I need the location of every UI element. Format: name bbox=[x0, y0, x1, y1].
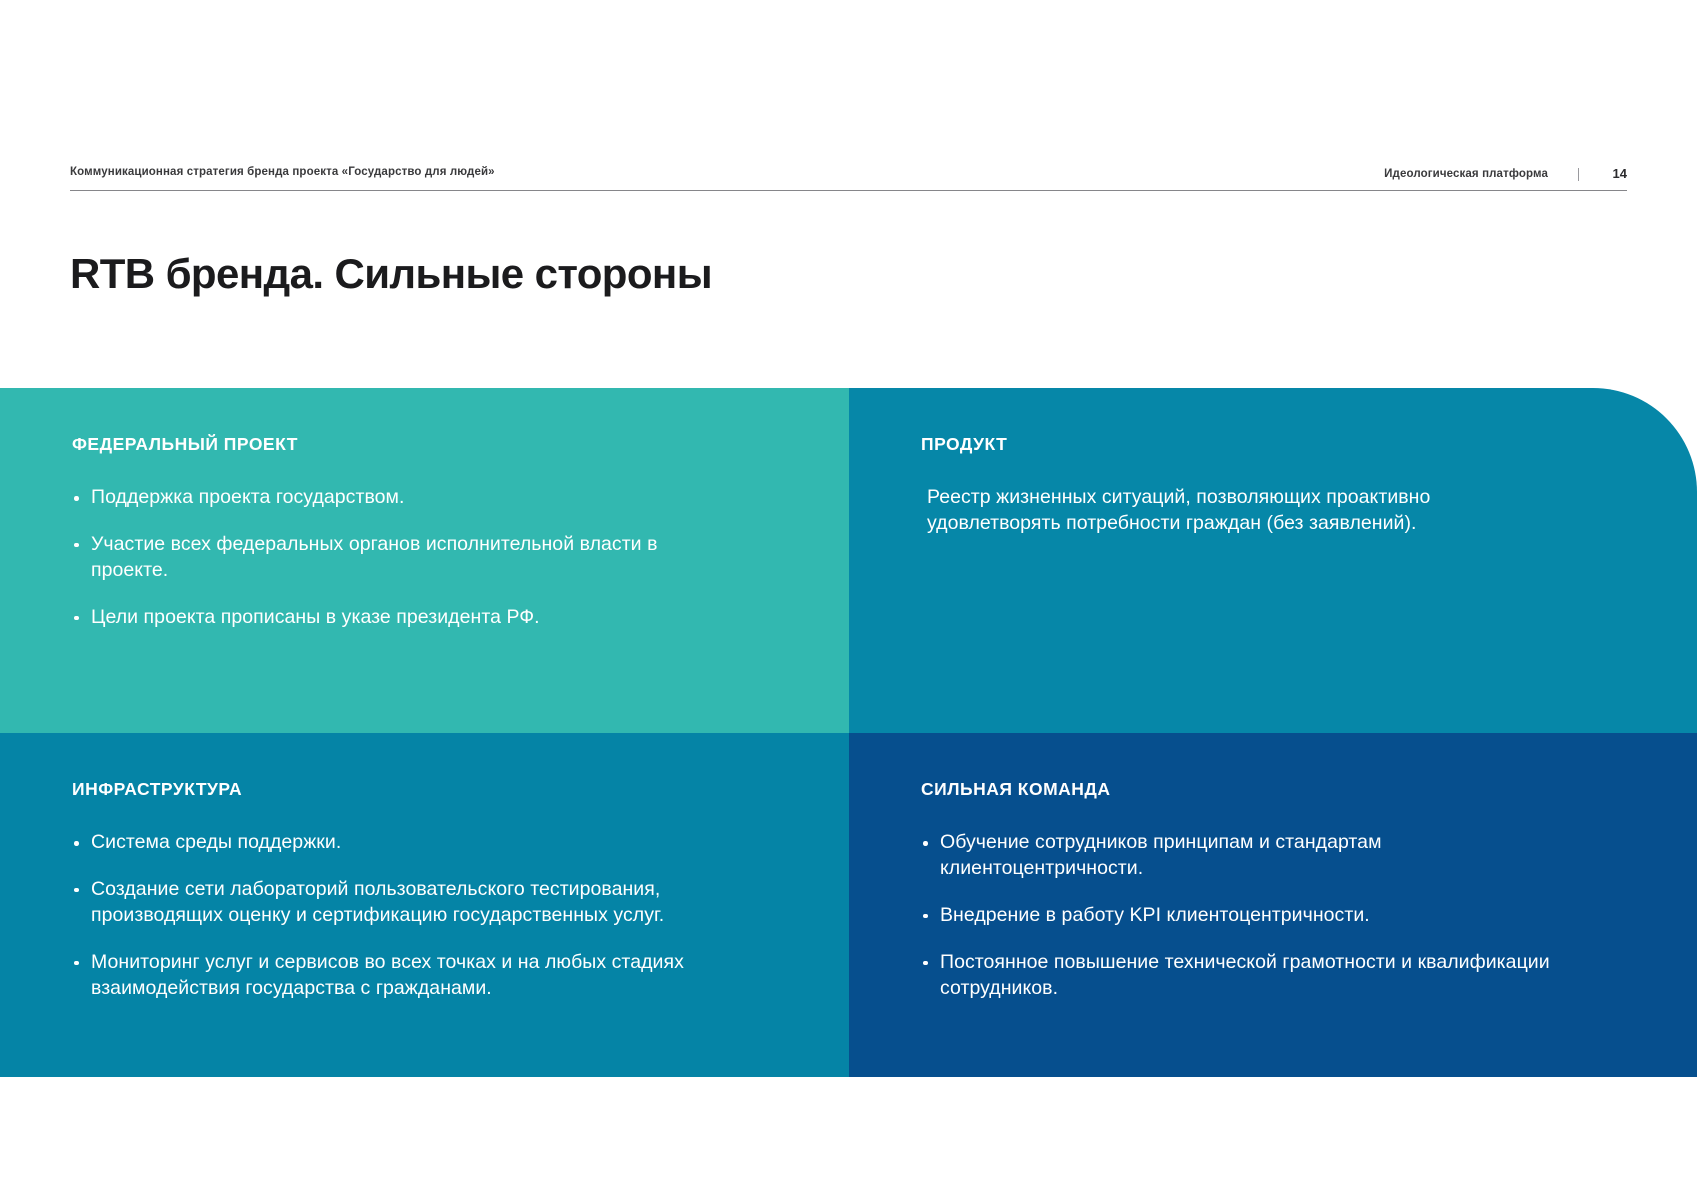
slide-root: Коммуникационная стратегия бренда проект… bbox=[0, 0, 1697, 1200]
panel-federal-project: ФЕДЕРАЛЬНЫЙ ПРОЕКТ Поддержка проекта гос… bbox=[0, 388, 849, 733]
panel-title-federal-project: ФЕДЕРАЛЬНЫЙ ПРОЕКТ bbox=[72, 434, 793, 455]
section-label: Идеологическая платформа bbox=[1384, 168, 1548, 180]
bullet-list-strong-team: Обучение сотрудников принципам и стандар… bbox=[921, 830, 1641, 1002]
list-item: Обучение сотрудников принципам и стандар… bbox=[921, 830, 1560, 882]
header-rule bbox=[70, 190, 1627, 191]
panel-product: ПРОДУКТ Реестр жизненных ситуаций, позво… bbox=[849, 388, 1697, 733]
list-item: Участие всех федеральных органов исполни… bbox=[72, 532, 711, 584]
header-meta: Идеологическая платформа 14 bbox=[1384, 166, 1627, 181]
page-title: RTB бренда. Сильные стороны bbox=[70, 250, 712, 298]
list-item: Создание сети лабораторий пользовательск… bbox=[72, 877, 711, 929]
panel-title-infrastructure: ИНФРАСТРУКТУРА bbox=[72, 779, 793, 800]
panel-title-product: ПРОДУКТ bbox=[921, 434, 1641, 455]
list-item: Система среды поддержки. bbox=[72, 830, 711, 856]
list-item: Внедрение в работу KPI клиентоцентричнос… bbox=[921, 903, 1560, 929]
list-item: Поддержка проекта государством. bbox=[72, 485, 711, 511]
panel-title-strong-team: СИЛЬНАЯ КОМАНДА bbox=[921, 779, 1641, 800]
list-item: Мониторинг услуг и сервисов во всех точк… bbox=[72, 950, 711, 1002]
panel-strong-team: СИЛЬНАЯ КОМАНДА Обучение сотрудников при… bbox=[849, 733, 1697, 1077]
header-divider bbox=[1578, 168, 1579, 181]
list-item: Цели проекта прописаны в указе президент… bbox=[72, 605, 711, 631]
page-number: 14 bbox=[1609, 166, 1627, 181]
bullet-list-federal-project: Поддержка проекта государством. Участие … bbox=[72, 485, 793, 631]
document-title-label: Коммуникационная стратегия бренда проект… bbox=[70, 166, 495, 178]
list-item: Постоянное повышение технической грамотн… bbox=[921, 950, 1560, 1002]
bullet-list-infrastructure: Система среды поддержки. Создание сети л… bbox=[72, 830, 793, 1002]
panel-body-product: Реестр жизненных ситуаций, позволяющих п… bbox=[921, 485, 1567, 537]
panel-infrastructure: ИНФРАСТРУКТУРА Система среды поддержки. … bbox=[0, 733, 849, 1077]
quadrant-grid: ФЕДЕРАЛЬНЫЙ ПРОЕКТ Поддержка проекта гос… bbox=[0, 388, 1697, 1077]
slide-header: Коммуникационная стратегия бренда проект… bbox=[70, 166, 1627, 192]
